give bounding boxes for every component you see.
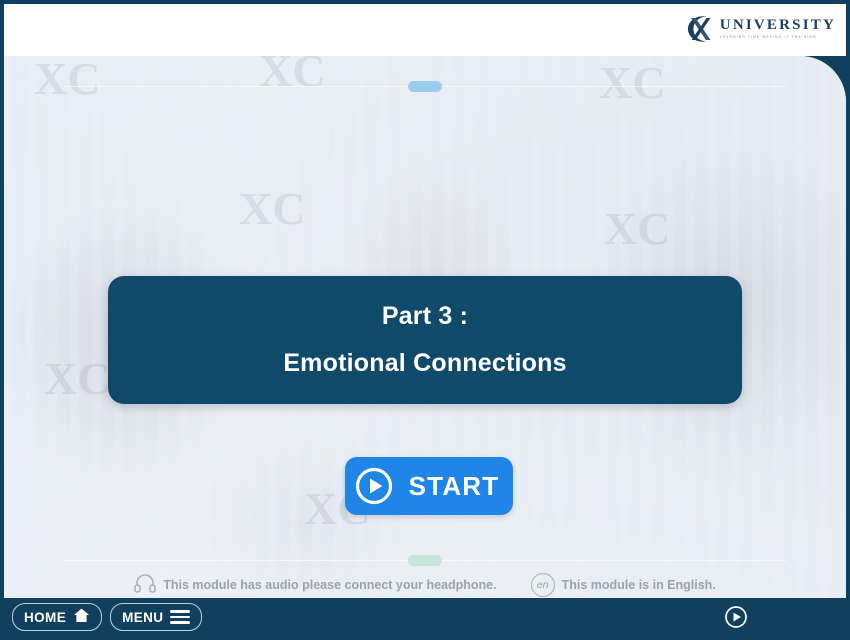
headphones-icon bbox=[134, 573, 156, 598]
play-circle-icon bbox=[345, 457, 403, 515]
start-button-label: START bbox=[403, 471, 513, 502]
menu-button-label: MENU bbox=[122, 610, 163, 625]
start-button[interactable]: START bbox=[345, 457, 513, 515]
watermark: XC bbox=[604, 206, 670, 252]
xc-monogram-icon bbox=[682, 12, 716, 46]
watermark: XC bbox=[239, 186, 305, 232]
player-toolbar: HOME MENU bbox=[4, 598, 846, 636]
audio-notice-text: This module has audio please connect you… bbox=[163, 578, 496, 592]
house-icon bbox=[73, 607, 90, 628]
part-label: Part 3 : bbox=[382, 302, 468, 331]
top-pill-marker bbox=[408, 81, 442, 92]
watermark: XC bbox=[599, 60, 665, 106]
page-title: Emotional Connections bbox=[283, 349, 566, 378]
bottom-pill-marker bbox=[408, 555, 442, 566]
module-notices: This module has audio please connect you… bbox=[4, 568, 846, 602]
language-notice-text: This module is in English. bbox=[562, 578, 716, 592]
home-button[interactable]: HOME bbox=[12, 603, 102, 631]
language-notice: en This module is in English. bbox=[531, 573, 716, 597]
logo-wordmark: UNIVERSITY LEARNING TIME MAKING IT TRAIN… bbox=[720, 18, 836, 39]
en-badge-icon: en bbox=[531, 573, 555, 597]
hamburger-icon bbox=[170, 610, 190, 624]
university-logo: UNIVERSITY LEARNING TIME MAKING IT TRAIN… bbox=[682, 12, 836, 46]
slide-stage: XC XC XC XC XC XC XC XC Part 3 : Emotion… bbox=[4, 56, 846, 602]
home-button-label: HOME bbox=[24, 610, 66, 625]
next-button[interactable] bbox=[724, 605, 748, 629]
audio-notice: This module has audio please connect you… bbox=[134, 573, 496, 598]
watermark: XC bbox=[34, 56, 100, 102]
slide-header: UNIVERSITY LEARNING TIME MAKING IT TRAIN… bbox=[4, 4, 846, 56]
title-card: Part 3 : Emotional Connections bbox=[108, 276, 742, 404]
watermark: XC bbox=[259, 56, 325, 94]
logo-tagline: LEARNING TIME MAKING IT TRAINING bbox=[720, 36, 836, 39]
menu-button[interactable]: MENU bbox=[110, 603, 202, 631]
logo-name: UNIVERSITY bbox=[720, 18, 836, 33]
module-slide: UNIVERSITY LEARNING TIME MAKING IT TRAIN… bbox=[0, 0, 850, 640]
play-circle-icon bbox=[724, 605, 748, 629]
watermark: XC bbox=[44, 356, 110, 402]
